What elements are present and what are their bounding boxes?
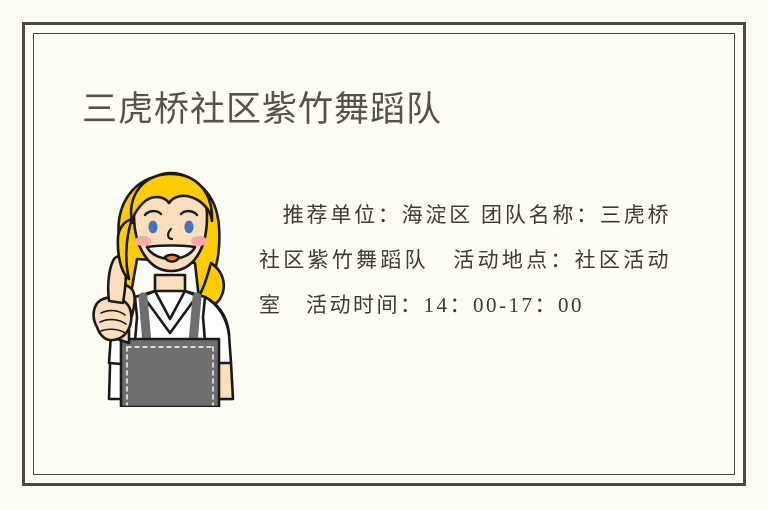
page-title: 三虎桥社区紫竹舞蹈队 xyxy=(82,88,442,132)
page-root: 三虎桥社区紫竹舞蹈队 xyxy=(0,0,768,510)
activity-details-text: 推荐单位：海淀区 团队名称：三虎桥社区紫竹舞蹈队 活动地点：社区活动室 活动时间… xyxy=(259,193,671,328)
woman-pointing-up-icon xyxy=(87,167,257,407)
card-frame-outer: 三虎桥社区紫竹舞蹈队 xyxy=(22,22,746,486)
